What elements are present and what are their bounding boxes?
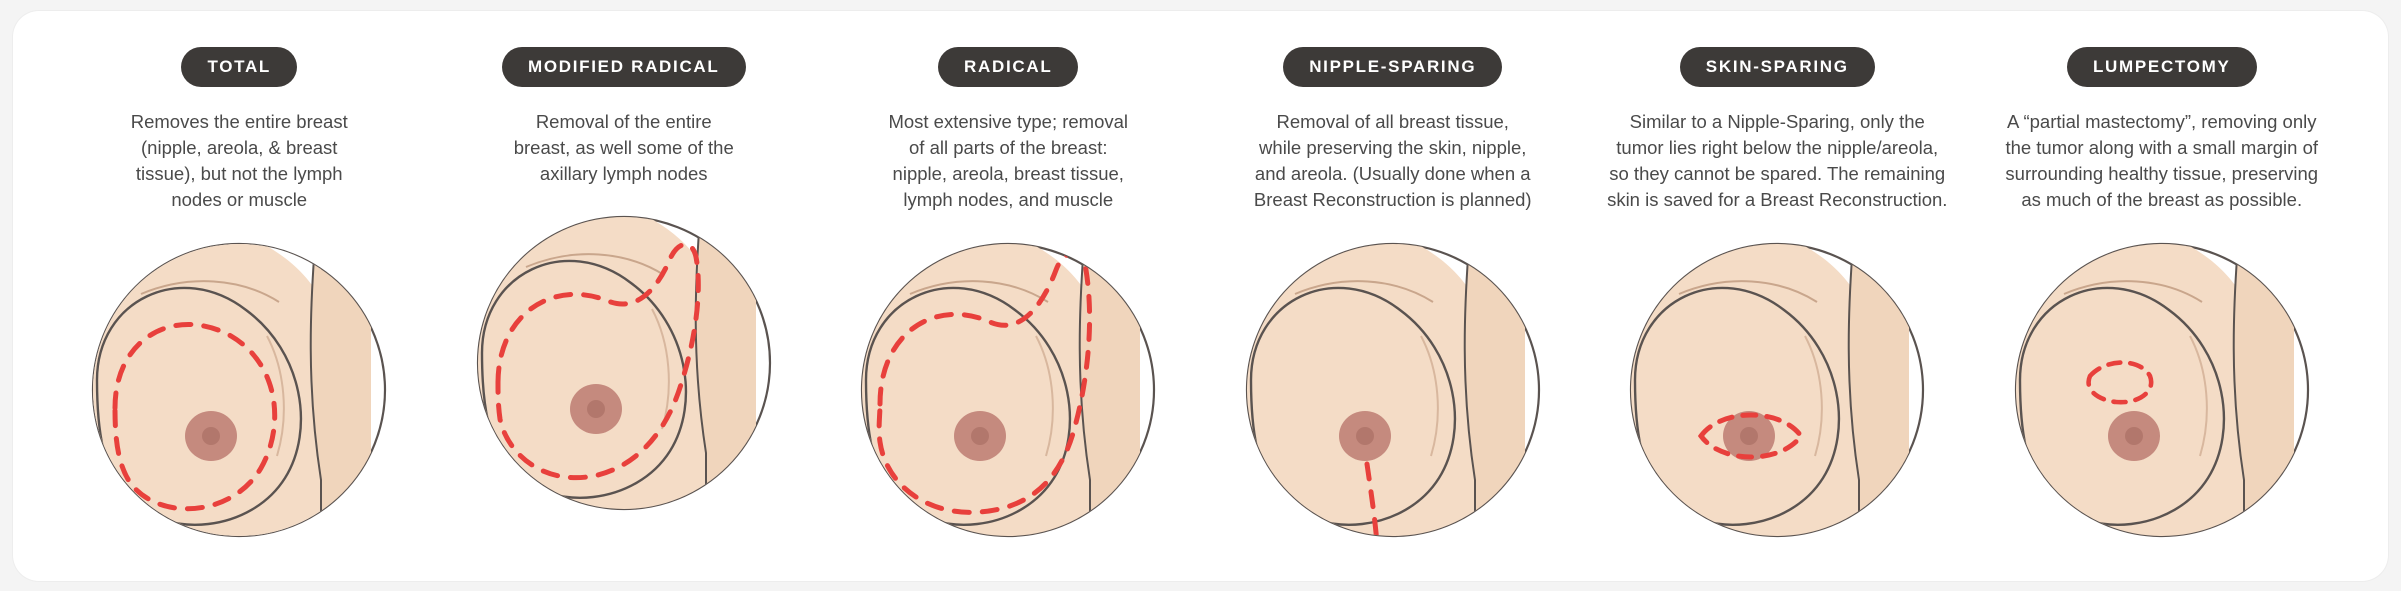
illustration-lumpectomy-wrap xyxy=(1976,240,2348,540)
description-total: Removes the entire breast (nipple, areol… xyxy=(131,109,348,214)
badge-skin-sparing[interactable]: SKIN-SPARING xyxy=(1680,47,1875,87)
description-modified-radical: Removal of the entire breast, as well so… xyxy=(514,109,734,188)
description-skin-sparing: Similar to a Nipple-Sparing, only the tu… xyxy=(1607,109,1947,214)
modified-radical-mastectomy-diagram xyxy=(456,213,792,513)
nipple-sparing-mastectomy-diagram xyxy=(1225,240,1561,540)
column-radical: RADICAL Most extensive type; removal of … xyxy=(816,33,1200,540)
badge-lumpectomy[interactable]: LUMPECTOMY xyxy=(2067,47,2257,87)
lumpectomy-diagram xyxy=(1994,240,2330,540)
column-lumpectomy: LUMPECTOMY A “partial mastectomy”, remov… xyxy=(1970,33,2354,540)
illustration-skin-sparing-wrap xyxy=(1591,240,1963,540)
badge-total[interactable]: TOTAL xyxy=(181,47,297,87)
illustration-nipple-sparing-wrap xyxy=(1207,240,1579,540)
illustration-modified-radical-wrap xyxy=(438,213,810,513)
badge-nipple-sparing[interactable]: NIPPLE-SPARING xyxy=(1283,47,1502,87)
column-skin-sparing: SKIN-SPARING Similar to a Nipple-Sparing… xyxy=(1585,33,1969,540)
radical-mastectomy-diagram xyxy=(840,240,1176,540)
column-nipple-sparing: NIPPLE-SPARING Removal of all breast tis… xyxy=(1201,33,1585,540)
column-modified-radical: MODIFIED RADICAL Removal of the entire b… xyxy=(432,33,816,514)
mastectomy-types-card: TOTAL Removes the entire breast (nipple,… xyxy=(13,11,2388,581)
description-lumpectomy: A “partial mastectomy”, removing only th… xyxy=(2005,109,2318,214)
page-background: TOTAL Removes the entire breast (nipple,… xyxy=(0,0,2401,591)
badge-radical[interactable]: RADICAL xyxy=(938,47,1078,87)
skin-sparing-mastectomy-diagram xyxy=(1609,240,1945,540)
illustration-radical-wrap xyxy=(822,240,1194,540)
description-radical: Most extensive type; removal of all part… xyxy=(888,109,1128,214)
badge-modified-radical[interactable]: MODIFIED RADICAL xyxy=(502,47,746,87)
illustration-total-wrap xyxy=(53,240,425,540)
description-nipple-sparing: Removal of all breast tissue, while pres… xyxy=(1254,109,1532,214)
column-total: TOTAL Removes the entire breast (nipple,… xyxy=(47,33,431,540)
total-mastectomy-diagram xyxy=(71,240,407,540)
